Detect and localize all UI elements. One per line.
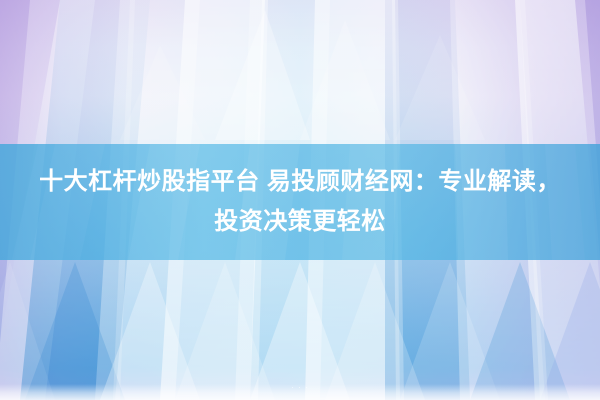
headline-text: 十大杠杆炒股指平台 易投顾财经网：专业解读， 投资决策更轻松 xyxy=(20,162,580,242)
headline-line-1: 十大杠杆炒股指平台 易投顾财经网：专业解读， xyxy=(20,162,580,202)
headline-band: 十大杠杆炒股指平台 易投顾财经网：专业解读， 投资决策更轻松 xyxy=(0,144,600,260)
promo-banner: 十大杠杆炒股指平台 易投顾财经网：专业解读， 投资决策更轻松 · · · xyxy=(0,0,600,400)
watermark-text: · · · xyxy=(291,383,308,392)
headline-line-2: 投资决策更轻松 xyxy=(20,202,580,242)
bottom-fade-strip xyxy=(0,384,600,400)
